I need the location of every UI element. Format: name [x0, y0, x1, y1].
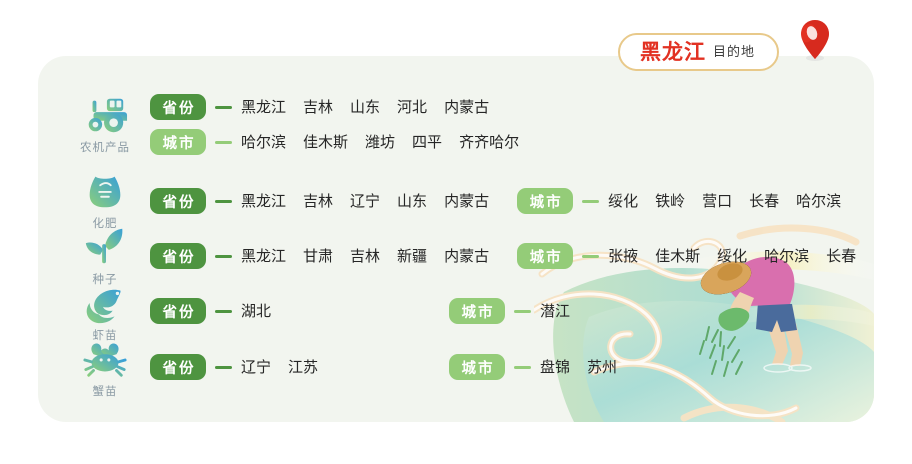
place-item[interactable]: 苏州: [587, 354, 617, 380]
row-种子: 省份 黑龙江 甘肃 吉林 新疆 内蒙古 城市 张掖 佳木斯 绥化 哈尔滨: [150, 243, 856, 269]
city-badge[interactable]: 城市: [517, 188, 573, 214]
place-item[interactable]: 新疆: [397, 243, 427, 269]
connector-dash: [215, 141, 232, 144]
row-农机产品: 省份 黑龙江 吉林 山东 河北 内蒙古 城市 哈尔滨 佳木斯 潍坊 四平: [150, 94, 519, 155]
place-item[interactable]: 哈尔滨: [796, 188, 841, 214]
place-item[interactable]: 铁岭: [655, 188, 685, 214]
place-item[interactable]: 江苏: [288, 354, 318, 380]
place-item[interactable]: 山东: [350, 94, 380, 120]
city-line: 城市 盘锦 苏州: [449, 354, 617, 380]
shrimp-icon: [82, 282, 128, 324]
place-item[interactable]: 甘肃: [303, 243, 333, 269]
province-list: 黑龙江 吉林 辽宁 山东 内蒙古: [241, 188, 489, 214]
city-list: 绥化 铁岭 营口 长春 哈尔滨: [608, 188, 841, 214]
province-badge[interactable]: 省份: [150, 188, 206, 214]
city-list: 潜江: [540, 298, 570, 324]
province-badge[interactable]: 省份: [150, 354, 206, 380]
province-badge[interactable]: 省份: [150, 243, 206, 269]
place-item[interactable]: 长春: [826, 243, 856, 269]
fertilizer-bag-icon: [82, 170, 128, 212]
crab-icon: [82, 338, 128, 380]
place-item[interactable]: 黑龙江: [241, 243, 286, 269]
city-badge[interactable]: 城市: [449, 354, 505, 380]
place-item[interactable]: 哈尔滨: [241, 129, 286, 155]
category-label: 蟹苗: [68, 383, 142, 399]
province-badge[interactable]: 省份: [150, 298, 206, 324]
destination-badge[interactable]: 黑龙江 目的地: [618, 33, 779, 71]
connector-dash: [215, 200, 232, 203]
province-badge[interactable]: 省份: [150, 94, 206, 120]
logistics-origin-panel: 农机产品 省份 黑龙江 吉林 山东 河北 内蒙古 城市 哈尔滨 佳木斯: [38, 56, 874, 422]
place-item[interactable]: 营口: [702, 188, 732, 214]
row-化肥: 省份 黑龙江 吉林 辽宁 山东 内蒙古 城市 绥化 铁岭 营口 长春: [150, 188, 841, 214]
place-item[interactable]: 张掖: [608, 243, 638, 269]
city-badge[interactable]: 城市: [517, 243, 573, 269]
category-label: 农机产品: [68, 139, 142, 155]
screenshot-root: 农机产品 省份 黑龙江 吉林 山东 河北 内蒙古 城市 哈尔滨 佳木斯: [0, 0, 912, 464]
place-item[interactable]: 齐齐哈尔: [459, 129, 519, 155]
city-line: 城市 绥化 铁岭 营口 长春 哈尔滨: [517, 188, 841, 214]
province-line: 省份 湖北: [150, 298, 421, 324]
province-line: 省份 黑龙江 吉林 辽宁 山东 内蒙古: [150, 188, 489, 214]
place-item[interactable]: 黑龙江: [241, 94, 286, 120]
map-pin-icon: [798, 18, 832, 62]
place-item[interactable]: 吉林: [303, 94, 333, 120]
province-list: 湖北: [241, 298, 421, 324]
province-list: 黑龙江 甘肃 吉林 新疆 内蒙古: [241, 243, 489, 269]
city-list: 哈尔滨 佳木斯 潍坊 四平 齐齐哈尔: [241, 129, 519, 155]
place-item[interactable]: 盘锦: [540, 354, 570, 380]
connector-dash: [582, 200, 599, 203]
connector-dash: [514, 366, 531, 369]
connector-dash: [215, 255, 232, 258]
seedling-icon: [82, 226, 128, 268]
category-化肥[interactable]: 化肥: [68, 170, 142, 231]
city-line: 城市 张掖 佳木斯 绥化 哈尔滨 长春: [517, 243, 856, 269]
place-item[interactable]: 佳木斯: [655, 243, 700, 269]
province-line: 省份 辽宁 江苏: [150, 354, 421, 380]
city-list: 盘锦 苏州: [540, 354, 617, 380]
place-item[interactable]: 内蒙古: [444, 94, 489, 120]
place-item[interactable]: 黑龙江: [241, 188, 286, 214]
place-item[interactable]: 绥化: [717, 243, 747, 269]
province-list: 黑龙江 吉林 山东 河北 内蒙古: [241, 94, 489, 120]
city-line: 城市 哈尔滨 佳木斯 潍坊 四平 齐齐哈尔: [150, 129, 519, 155]
place-item[interactable]: 哈尔滨: [764, 243, 809, 269]
tractor-icon: [82, 94, 128, 136]
city-badge[interactable]: 城市: [449, 298, 505, 324]
destination-name: 黑龙江: [640, 42, 706, 63]
category-种子[interactable]: 种子: [68, 226, 142, 287]
city-line: 城市 潜江: [449, 298, 570, 324]
connector-dash: [215, 366, 232, 369]
connector-dash: [582, 255, 599, 258]
place-item[interactable]: 内蒙古: [444, 243, 489, 269]
row-虾苗: 省份 湖北 城市 潜江: [150, 298, 570, 324]
province-line: 省份 黑龙江 吉林 山东 河北 内蒙古: [150, 94, 489, 120]
place-item[interactable]: 山东: [397, 188, 427, 214]
category-蟹苗[interactable]: 蟹苗: [68, 338, 142, 399]
row-蟹苗: 省份 辽宁 江苏 城市 盘锦 苏州: [150, 354, 617, 380]
place-item[interactable]: 河北: [397, 94, 427, 120]
place-item[interactable]: 辽宁: [241, 354, 271, 380]
destination-subtitle: 目的地: [713, 46, 755, 59]
place-item[interactable]: 潍坊: [365, 129, 395, 155]
place-item[interactable]: 长春: [749, 188, 779, 214]
place-item[interactable]: 辽宁: [350, 188, 380, 214]
province-list: 辽宁 江苏: [241, 354, 421, 380]
category-虾苗[interactable]: 虾苗: [68, 282, 142, 343]
place-item[interactable]: 吉林: [350, 243, 380, 269]
category-农机产品[interactable]: 农机产品: [68, 94, 142, 155]
city-list: 张掖 佳木斯 绥化 哈尔滨 长春: [608, 243, 856, 269]
connector-dash: [215, 106, 232, 109]
place-item[interactable]: 四平: [412, 129, 442, 155]
city-badge[interactable]: 城市: [150, 129, 206, 155]
place-item[interactable]: 吉林: [303, 188, 333, 214]
place-item[interactable]: 潜江: [540, 298, 570, 324]
place-item[interactable]: 佳木斯: [303, 129, 348, 155]
connector-dash: [514, 310, 531, 313]
connector-dash: [215, 310, 232, 313]
place-item[interactable]: 绥化: [608, 188, 638, 214]
province-line: 省份 黑龙江 甘肃 吉林 新疆 内蒙古: [150, 243, 489, 269]
place-item[interactable]: 内蒙古: [444, 188, 489, 214]
place-item[interactable]: 湖北: [241, 298, 271, 324]
